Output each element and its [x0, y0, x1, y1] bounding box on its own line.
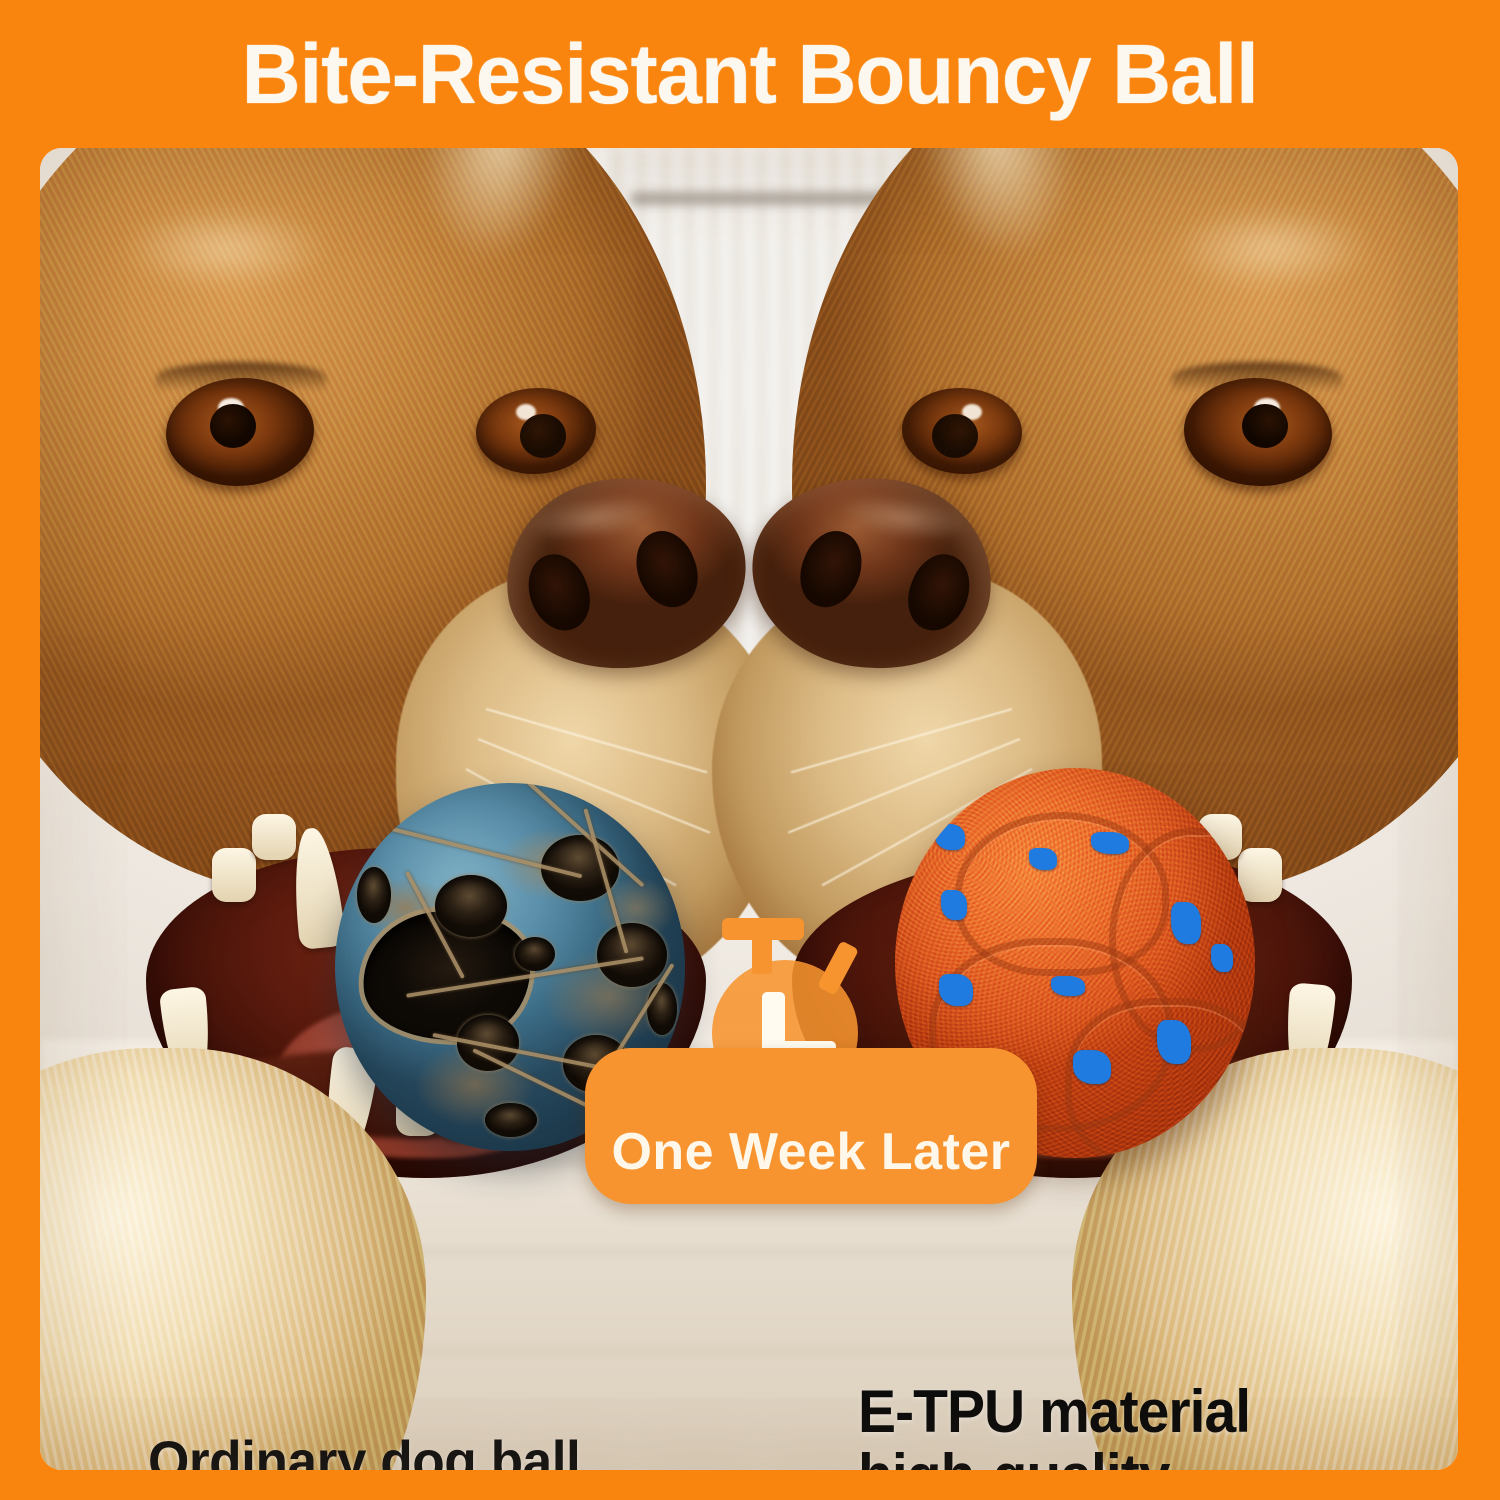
badge-label: One Week Later [611, 1126, 1010, 1204]
caption-line-1: E-TPU material [858, 1380, 1250, 1444]
badge-pill: One Week Later [585, 1048, 1037, 1204]
dog-left [40, 148, 736, 1470]
page-title: Bite-Resistant Bouncy Ball [242, 32, 1258, 116]
caption-etpu-features: E-TPU material high-quality chew-resista… [858, 1380, 1250, 1470]
product-comparison-photo: One Week Later Ordinary dog ball E-TPU m… [40, 148, 1458, 1470]
dog-right-eye-far [902, 388, 1022, 474]
title-bar: Bite-Resistant Bouncy Ball [0, 0, 1500, 148]
caption-line-2: high-quality [858, 1444, 1250, 1470]
one-week-later-badge: One Week Later [545, 916, 1005, 1206]
caption-ordinary-ball: Ordinary dog ball [148, 1428, 580, 1470]
tooth [212, 848, 256, 902]
tooth [252, 814, 296, 860]
dog-right-eye-near [1184, 378, 1332, 486]
